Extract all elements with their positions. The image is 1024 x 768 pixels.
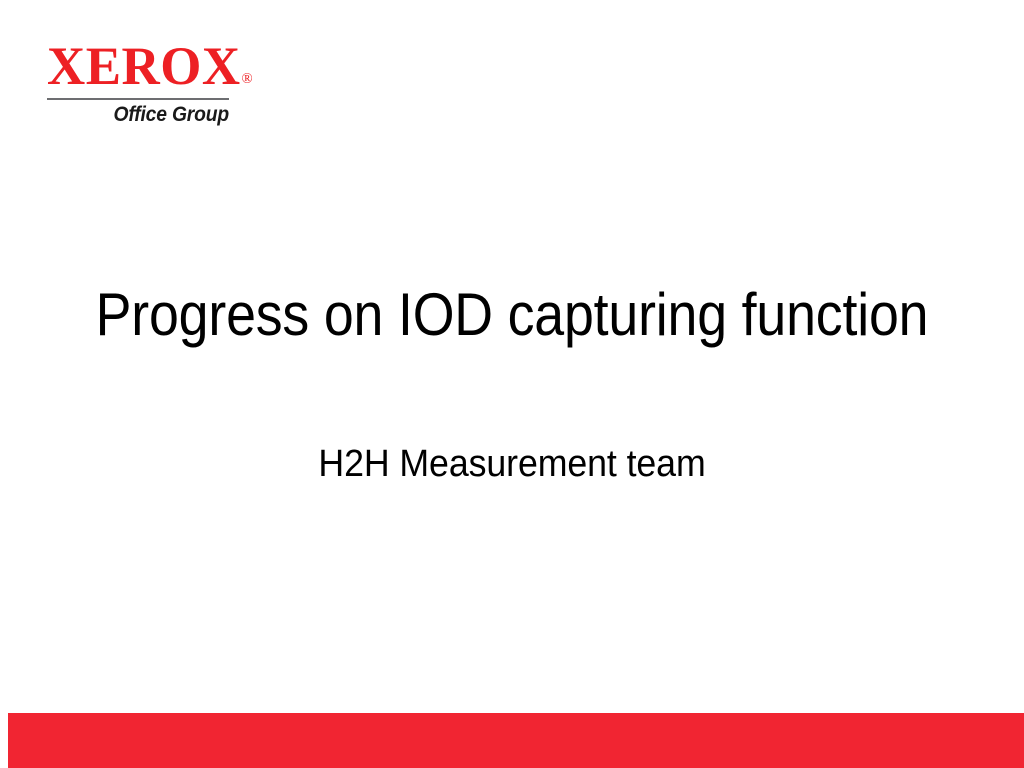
title-placeholder: Progress on IOD capturing function (0, 282, 1024, 348)
xerox-wordmark-text: XEROX (47, 36, 241, 96)
registered-trademark-icon: ® (242, 71, 254, 87)
logo-divider-rule (47, 98, 229, 100)
page-title: Progress on IOD capturing function (54, 282, 970, 348)
logo-tagline: Office Group (62, 104, 229, 126)
xerox-office-group-logo: XEROX® Office Group (47, 40, 229, 126)
subtitle-placeholder: H2H Measurement team (0, 442, 1024, 486)
title-slide: XEROX® Office Group Progress on IOD capt… (0, 0, 1024, 768)
xerox-wordmark: XEROX® (47, 40, 225, 93)
footer-accent-band (8, 713, 1024, 768)
page-subtitle: H2H Measurement team (31, 442, 994, 486)
